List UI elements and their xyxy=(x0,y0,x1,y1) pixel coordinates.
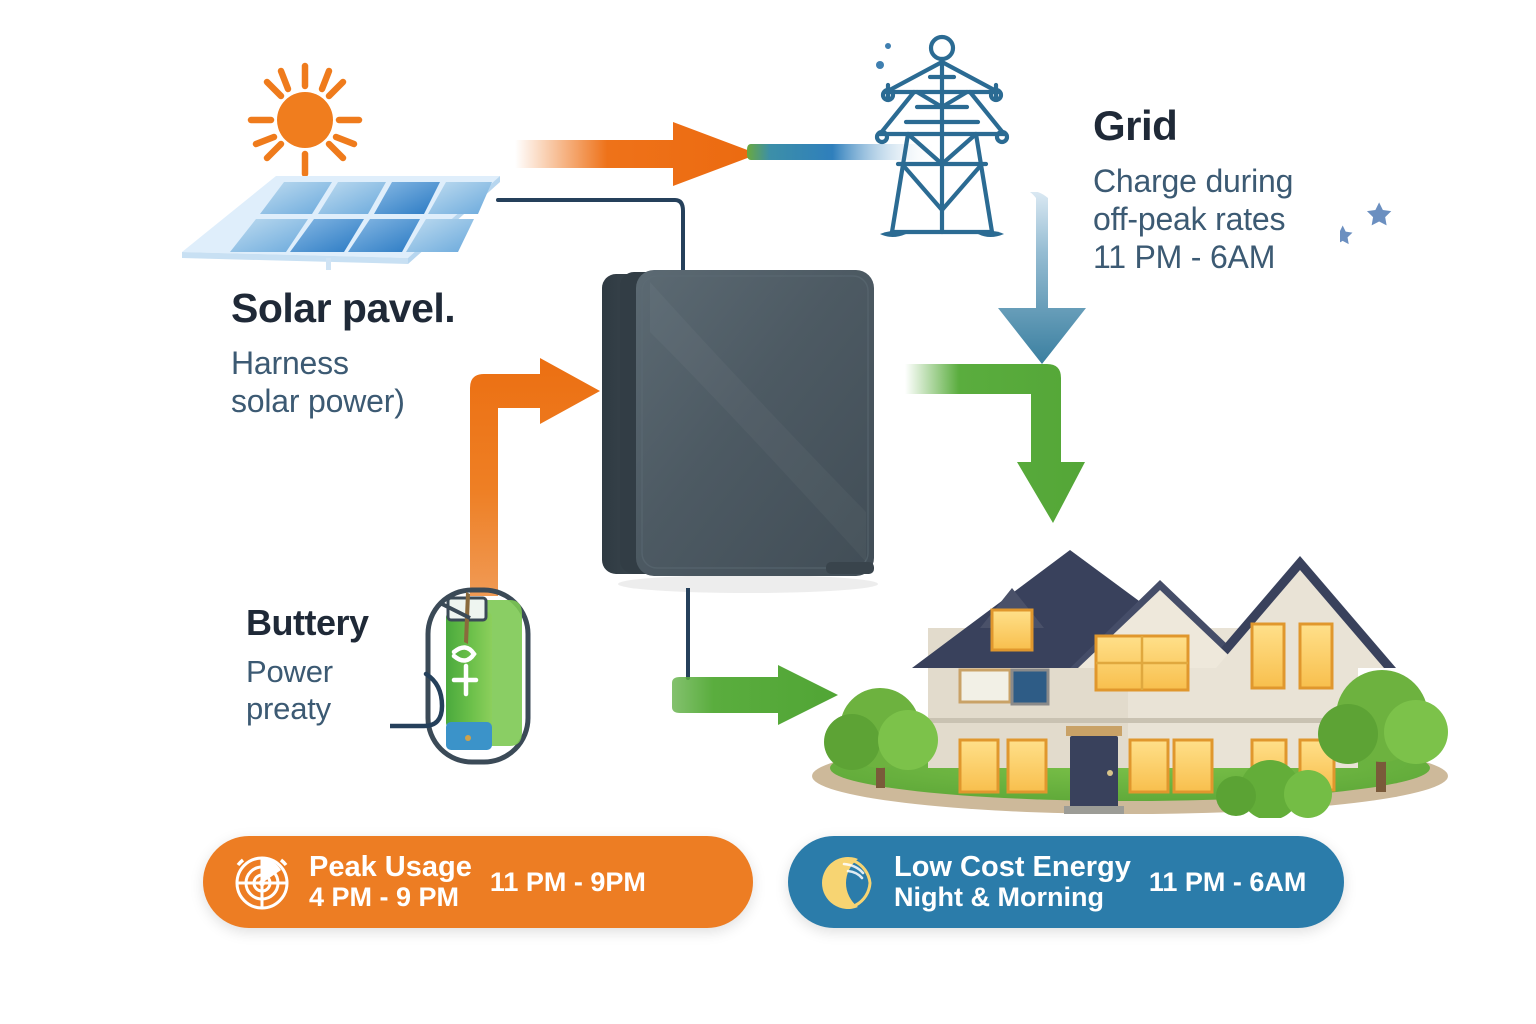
solar-subtitle-line2: solar power) xyxy=(231,383,455,421)
peak-usage-subtitle: 4 PM - 9 PM xyxy=(309,883,472,913)
battery-label-group: Buttery Power preaty xyxy=(246,605,369,727)
solar-label-group: Solar pavel. Harness solar power) xyxy=(231,288,455,421)
grid-label-group: Grid Charge during off-peak rates 11 PM … xyxy=(1093,105,1293,276)
grid-subtitle: Charge during off-peak rates 11 PM - 6AM xyxy=(1093,163,1293,276)
solar-subtitle-line1: Harness xyxy=(231,345,455,383)
flow-arrow-solar-to-grid xyxy=(515,118,760,190)
solar-subtitle: Harness solar power) xyxy=(231,345,455,421)
peak-usage-time: 11 PM - 9PM xyxy=(490,867,646,898)
peak-usage-texts: Peak Usage 4 PM - 9 PM xyxy=(309,852,472,912)
battery-subtitle-line1: Power xyxy=(246,654,369,691)
flow-arrow-unit-down xyxy=(905,358,1085,526)
peak-usage-pill[interactable]: Peak Usage 4 PM - 9 PM 11 PM - 9PM xyxy=(203,836,753,928)
grid-title: Grid xyxy=(1093,105,1293,147)
grid-subtitle-line2: off-peak rates xyxy=(1093,201,1293,239)
house-icon xyxy=(800,528,1460,818)
low-cost-energy-title: Low Cost Energy xyxy=(894,852,1131,883)
low-cost-energy-subtitle: Night & Morning xyxy=(894,883,1131,913)
battery-subtitle-line2: preaty xyxy=(246,691,369,728)
solar-panel-icon xyxy=(176,148,506,270)
battery-title: Buttery xyxy=(246,605,369,641)
battery-label-connector xyxy=(390,660,460,740)
low-cost-energy-pill[interactable]: Low Cost Energy Night & Morning 11 PM - … xyxy=(788,836,1344,928)
sparkle-stars-icon xyxy=(1340,200,1420,270)
flow-arrow-grid-to-battery xyxy=(988,192,1108,367)
grid-subtitle-line3: 11 PM - 6AM xyxy=(1093,239,1293,277)
moon-icon xyxy=(814,849,880,915)
flow-arrow-battery-to-unit xyxy=(452,358,602,596)
battery-subtitle: Power preaty xyxy=(246,654,369,727)
low-cost-energy-texts: Low Cost Energy Night & Morning xyxy=(894,852,1131,912)
low-cost-energy-time: 11 PM - 6AM xyxy=(1149,867,1307,898)
solar-title: Solar pavel. xyxy=(231,288,455,329)
peak-usage-title: Peak Usage xyxy=(309,852,472,883)
infographic-canvas: Grid Charge during off-peak rates 11 PM … xyxy=(0,0,1536,1024)
grid-subtitle-line1: Charge during xyxy=(1093,163,1293,201)
radar-clock-icon xyxy=(229,849,295,915)
